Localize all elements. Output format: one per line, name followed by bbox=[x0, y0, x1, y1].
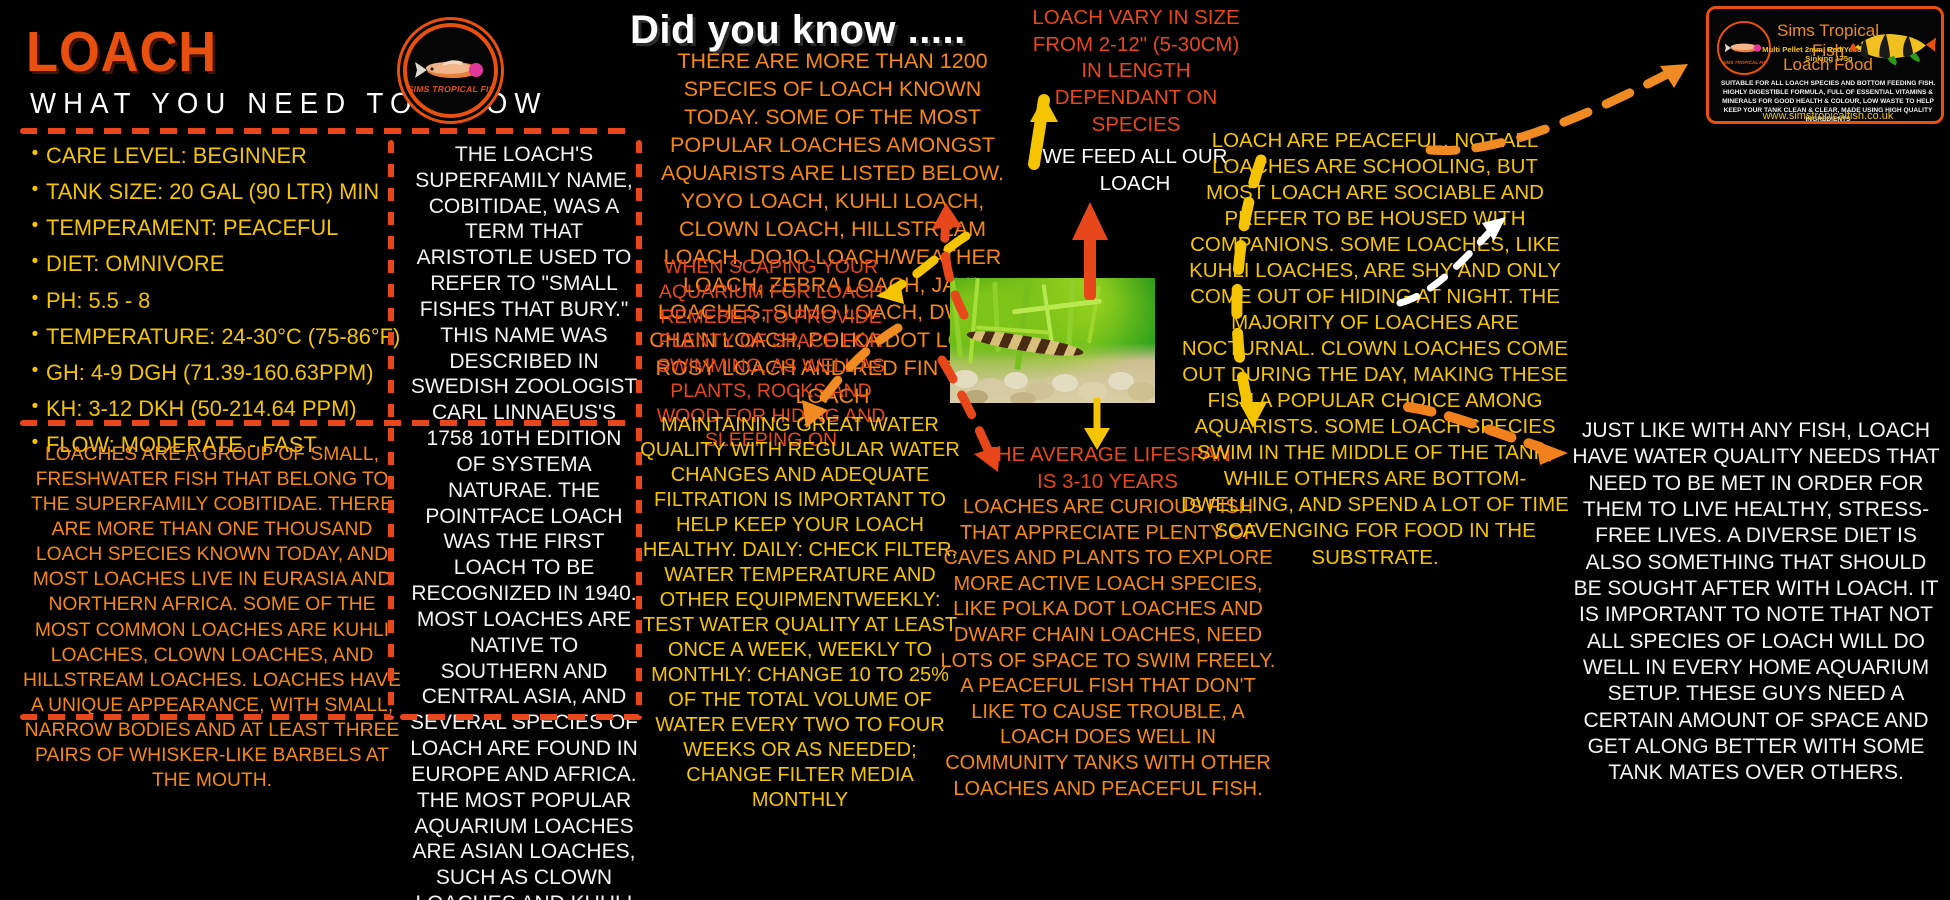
list-item: • CARE LEVEL: BEGINNER bbox=[24, 140, 394, 173]
spec-label: CARE LEVEL: BEGINNER bbox=[46, 140, 307, 173]
intro-paragraph: LOACHES ARE A GROUP OF SMALL, FRESHWATER… bbox=[18, 442, 406, 793]
list-item: • DIET: OMNIVORE bbox=[24, 248, 394, 281]
spec-label: TEMPERAMENT: PEACEFUL bbox=[46, 212, 338, 245]
bullet-icon: • bbox=[24, 176, 46, 204]
loach-aquarium-photo bbox=[950, 278, 1155, 403]
bullet-icon: • bbox=[24, 393, 46, 421]
bullet-icon: • bbox=[24, 248, 46, 276]
clown-loach-icon bbox=[1849, 27, 1937, 67]
list-item: • TEMPERAMENT: PEACEFUL bbox=[24, 212, 394, 245]
divider-bottom-center bbox=[400, 714, 640, 720]
product-url[interactable]: www.simstropicalfish.co.uk bbox=[1715, 110, 1941, 122]
spec-list: • CARE LEVEL: BEGINNER • TANK SIZE: 20 G… bbox=[24, 140, 394, 465]
bullet-icon: • bbox=[24, 140, 46, 168]
brand-logo: SIMS TROPICAL FISH bbox=[403, 23, 498, 118]
spec-label: TANK SIZE: 20 GAL (90 LTR) MIN bbox=[46, 176, 379, 209]
spec-label: TEMPERATURE: 24-30°C (75-86°F) bbox=[46, 321, 400, 354]
size-callout: LOACH VARY IN SIZE FROM 2-12" (5-30CM) I… bbox=[1020, 5, 1252, 138]
water-quality-paragraph: MAINTAINING GREAT WATER QUALITY WITH REG… bbox=[640, 413, 960, 813]
spec-label: PH: 5.5 - 8 bbox=[46, 285, 150, 318]
divider-left-panel-right bbox=[388, 140, 394, 720]
bullet-icon: • bbox=[24, 357, 46, 385]
section-heading-did-you-know: Did you know ..... bbox=[630, 8, 966, 53]
divider-bottom-left bbox=[20, 714, 392, 720]
page-title: LOACH bbox=[26, 24, 217, 81]
infographic-canvas: LOACH WHAT YOU NEED TO KNOW • CARE LEVEL… bbox=[0, 0, 1950, 900]
product-label[interactable]: SIMS TROPICAL FISH Sims Tropical Fish Mu… bbox=[1706, 6, 1944, 124]
spec-label: DIET: OMNIVORE bbox=[46, 248, 224, 281]
diet-needs-paragraph: JUST LIKE WITH ANY FISH, LOACH HAVE WATE… bbox=[1570, 418, 1942, 787]
list-item: • GH: 4-9 DGH (71.39-160.63PPM) bbox=[24, 357, 394, 390]
history-paragraph: THE LOACH'S SUPERFAMILY NAME, COBITIDAE,… bbox=[410, 142, 638, 900]
bullet-icon: • bbox=[24, 285, 46, 313]
bullet-icon: • bbox=[24, 321, 46, 349]
spec-label: GH: 4-9 DGH (71.39-160.63PPM) bbox=[46, 357, 374, 390]
list-item: • TEMPERATURE: 24-30°C (75-86°F) bbox=[24, 321, 394, 354]
bullet-icon: • bbox=[24, 212, 46, 240]
divider-top-left bbox=[20, 128, 630, 134]
brand-logo-text: SIMS TROPICAL FISH bbox=[406, 84, 498, 94]
fish-icon bbox=[415, 57, 487, 85]
temperament-paragraph: LOACH ARE PEACEFUL. NOT ALL LOACHES ARE … bbox=[1180, 128, 1570, 571]
list-item: • TANK SIZE: 20 GAL (90 LTR) MIN bbox=[24, 176, 394, 209]
list-item: • PH: 5.5 - 8 bbox=[24, 285, 394, 318]
